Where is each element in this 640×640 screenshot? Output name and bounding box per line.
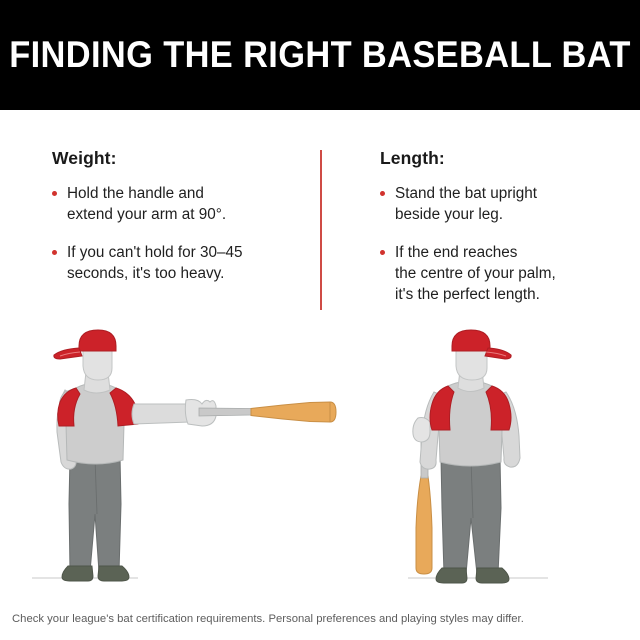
bullet-line: If the end reaches — [395, 242, 610, 263]
shoe-left — [62, 566, 93, 581]
shoe-right — [98, 566, 129, 581]
bat-barrel — [416, 476, 432, 574]
bullet-line: seconds, it's too heavy. — [67, 263, 302, 284]
cap-crown — [452, 330, 490, 351]
bat-barrel — [251, 402, 330, 422]
hand-left-grip — [413, 418, 430, 443]
shoe-left — [436, 568, 467, 583]
bat-handle — [199, 408, 251, 416]
footer-note: Check your league's bat certification re… — [12, 612, 628, 627]
column-length-list: Stand the bat upright beside your leg. I… — [380, 183, 610, 305]
column-weight: Weight: Hold the handle and extend your … — [52, 148, 302, 284]
column-weight-list: Hold the handle and extend your arm at 9… — [52, 183, 302, 284]
cap-crown — [79, 330, 116, 351]
bullet-dot-icon — [380, 191, 385, 196]
bat-end-cap — [330, 402, 336, 422]
column-divider — [320, 150, 322, 310]
infographic-page: FINDING THE RIGHT BASEBALL BAT Weight: H… — [0, 0, 640, 640]
bullet-line: Hold the handle and — [67, 183, 302, 204]
page-title: FINDING THE RIGHT BASEBALL BAT — [22, 0, 617, 110]
bullet-line: Stand the bat upright — [395, 183, 610, 204]
bullet-dot-icon — [52, 250, 57, 255]
column-length-heading: Length: — [380, 148, 610, 169]
arm-extended — [132, 404, 190, 424]
illustration-player-arm-extended — [20, 328, 350, 596]
pants — [69, 456, 121, 572]
bullet-dot-icon — [52, 191, 57, 196]
column-length: Length: Stand the bat upright beside you… — [380, 148, 610, 305]
bullet-dot-icon — [380, 250, 385, 255]
column-weight-heading: Weight: — [52, 148, 302, 169]
bullet-line: it's the perfect length. — [395, 284, 610, 305]
list-item: If you can't hold for 30–45 seconds, it'… — [52, 242, 302, 284]
bullet-line: beside your leg. — [395, 204, 610, 225]
illustration-player-bat-upright — [378, 328, 608, 596]
bullet-line: the centre of your palm, — [395, 263, 610, 284]
bullet-line: If you can't hold for 30–45 — [67, 242, 302, 263]
list-item: Hold the handle and extend your arm at 9… — [52, 183, 302, 225]
pants — [441, 458, 501, 574]
list-item: Stand the bat upright beside your leg. — [380, 183, 610, 225]
bullet-line: extend your arm at 90°. — [67, 204, 302, 225]
list-item: If the end reaches the centre of your pa… — [380, 242, 610, 305]
shoe-right — [476, 568, 509, 583]
